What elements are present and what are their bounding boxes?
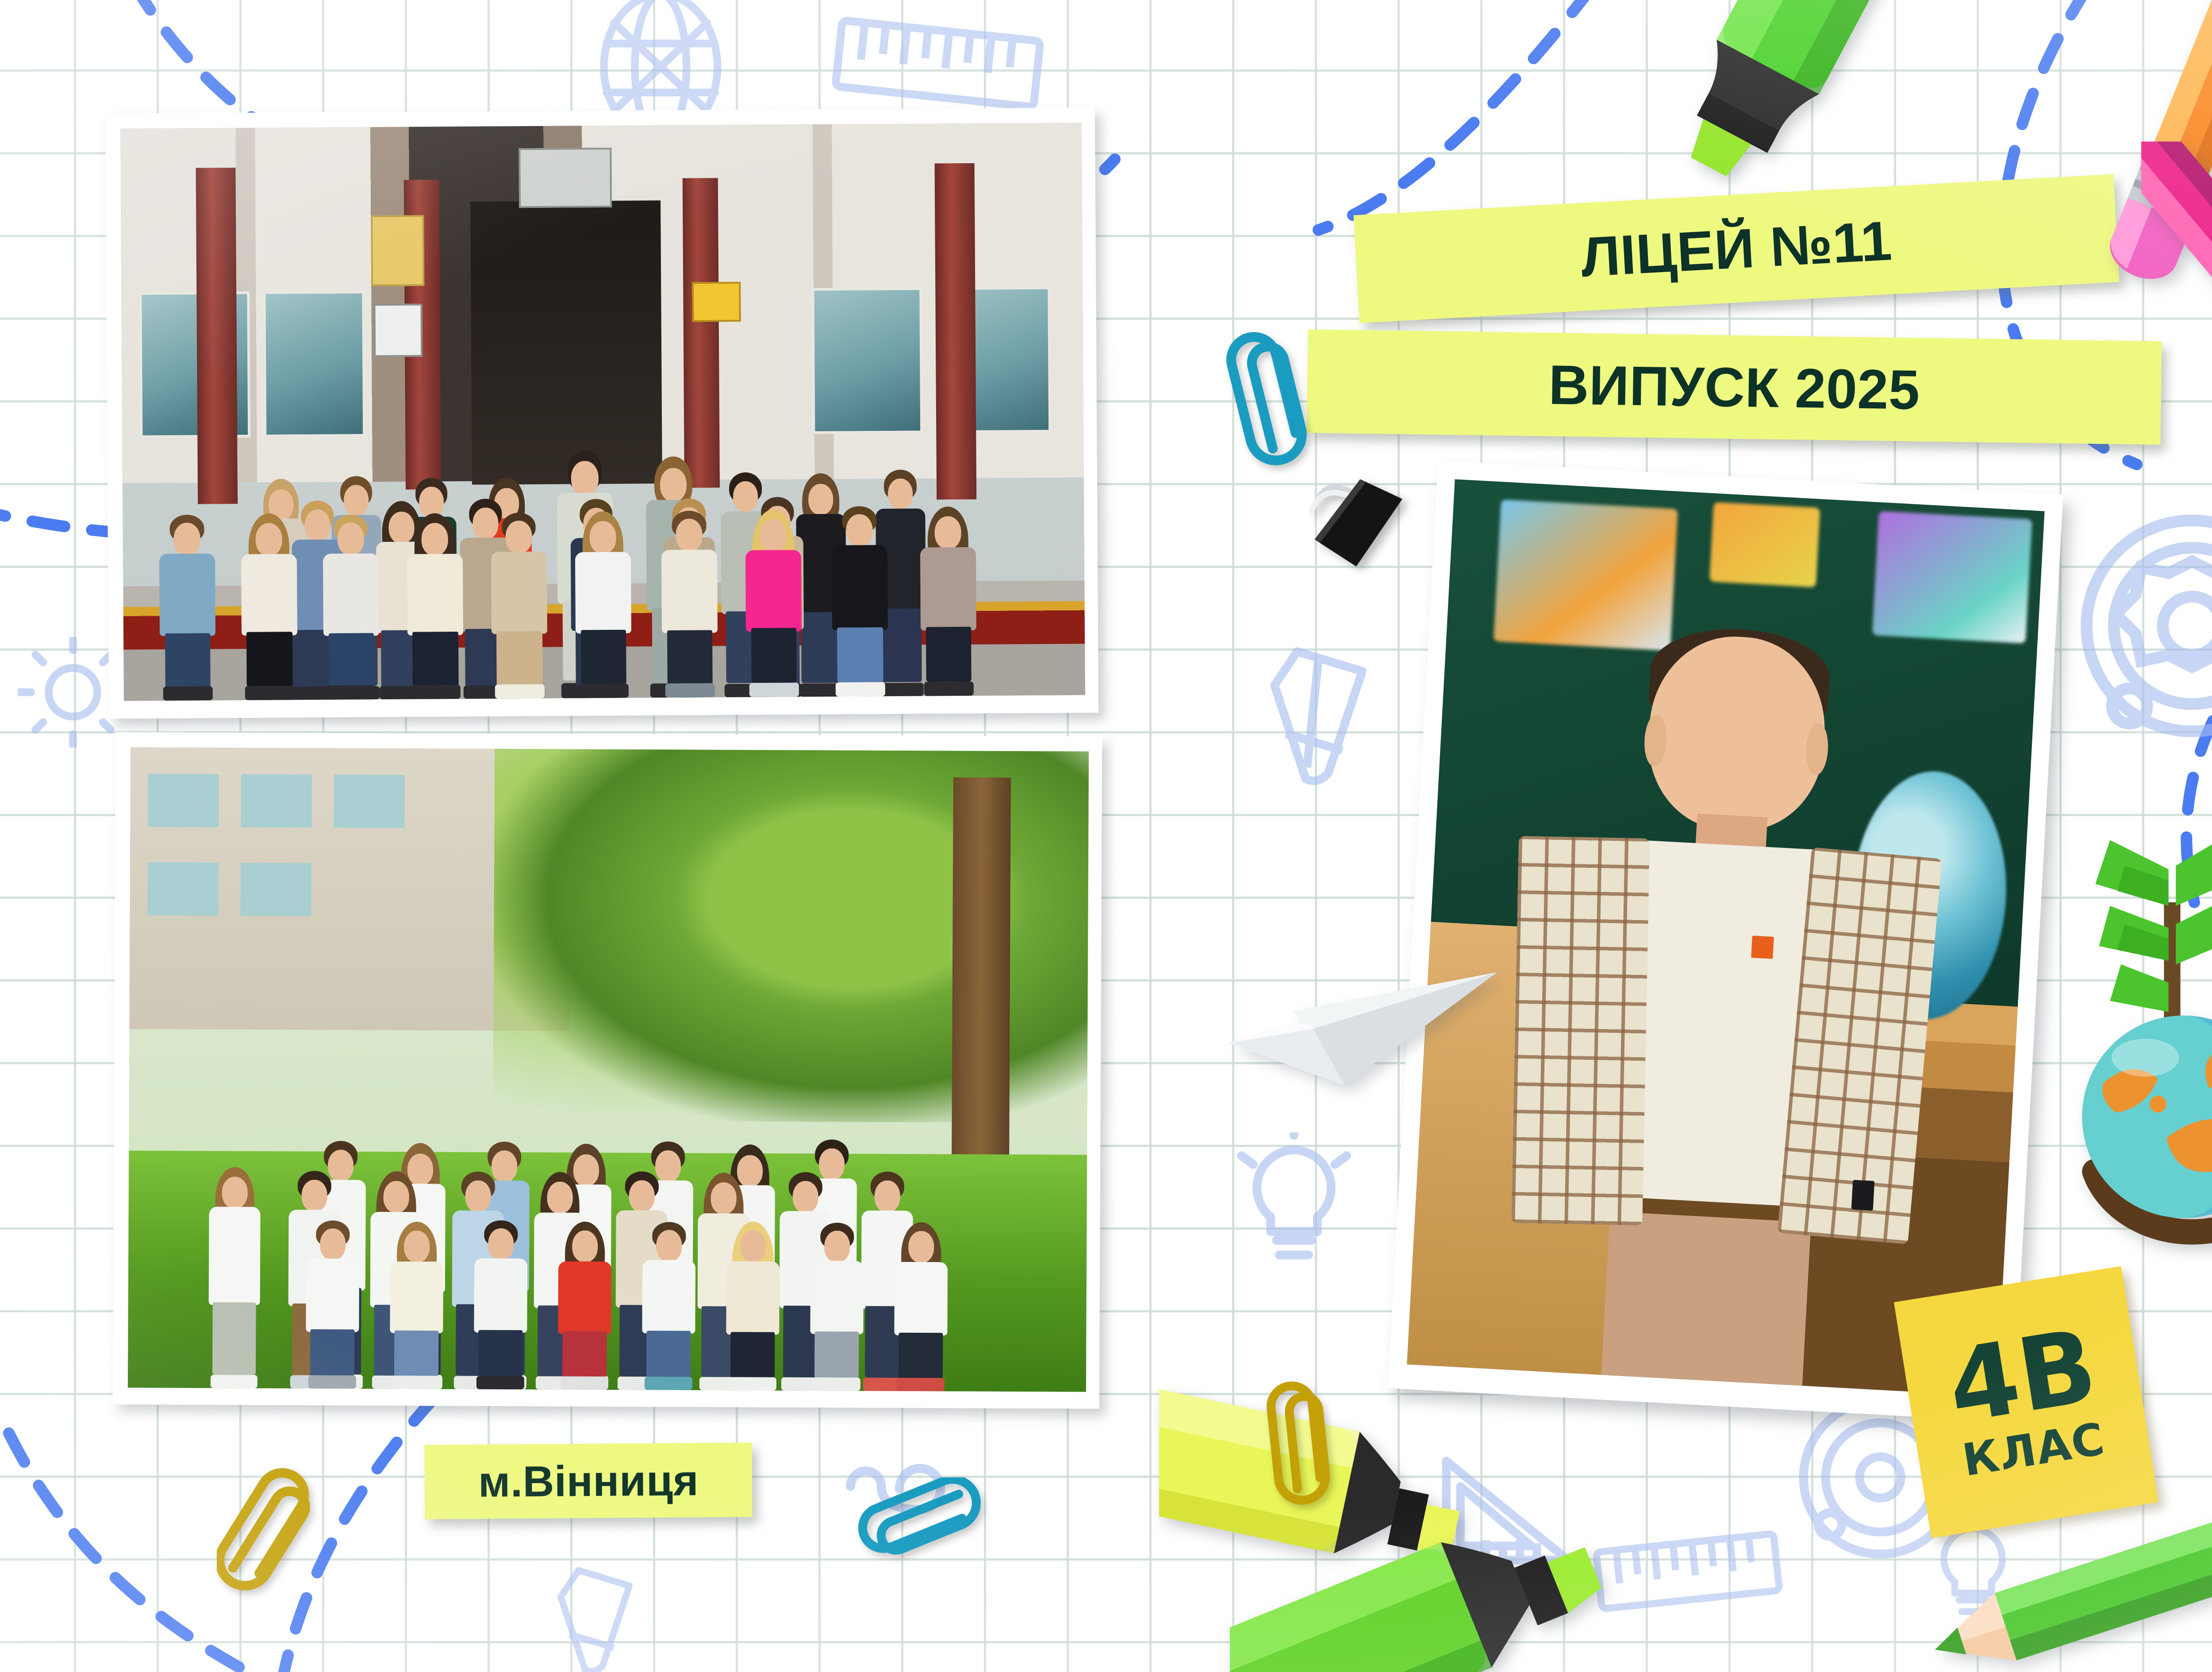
banner-year-text: ВИПУСК 2025 [1548,353,1920,422]
paper-plane-icon [1221,929,1504,1115]
photo-two-image [128,747,1089,1392]
green-highlighter-top [1655,0,1929,203]
outline-lightbulb-icon [1221,1132,1367,1278]
green-pencil-bottom [1911,1495,2212,1672]
green-highlighter-bottom [1230,1495,1646,1672]
paperclip-teal-top [1225,323,1327,469]
banner-city-text: м.Вінниця [478,1455,699,1507]
cartoon-globe-icon [2048,973,2212,1256]
portrait-subject [1484,625,1960,1392]
photo-one-image [120,123,1085,701]
banner-city[interactable]: м.Вінниця [424,1442,752,1519]
poster-canvas: ЛІЦЕЙ №11 ВИПУСК 2025 м.Вінниця 4В КЛАС [0,0,2212,1672]
class-group-photo-vyshyvanka [113,732,1102,1409]
banner-graduation-year[interactable]: ВИПУСК 2025 [1306,330,2162,445]
banner-lyceum-text: ЛІЦЕЙ №11 [1579,208,1893,289]
outline-pencil-icon [1252,646,1385,787]
paperclip-teal-bottom [858,1477,991,1570]
paperclip-gold [217,1464,327,1606]
outline-pencil-icon-bottom [544,1566,646,1672]
class-group-photo-steps [105,107,1098,719]
paperclip-gold-bottom-center [1256,1376,1358,1508]
outline-atom-icon [2075,509,2212,743]
pink-pencil [2141,142,2212,478]
binder-clip [1292,463,1433,590]
outline-ruler-icon [832,15,1044,117]
